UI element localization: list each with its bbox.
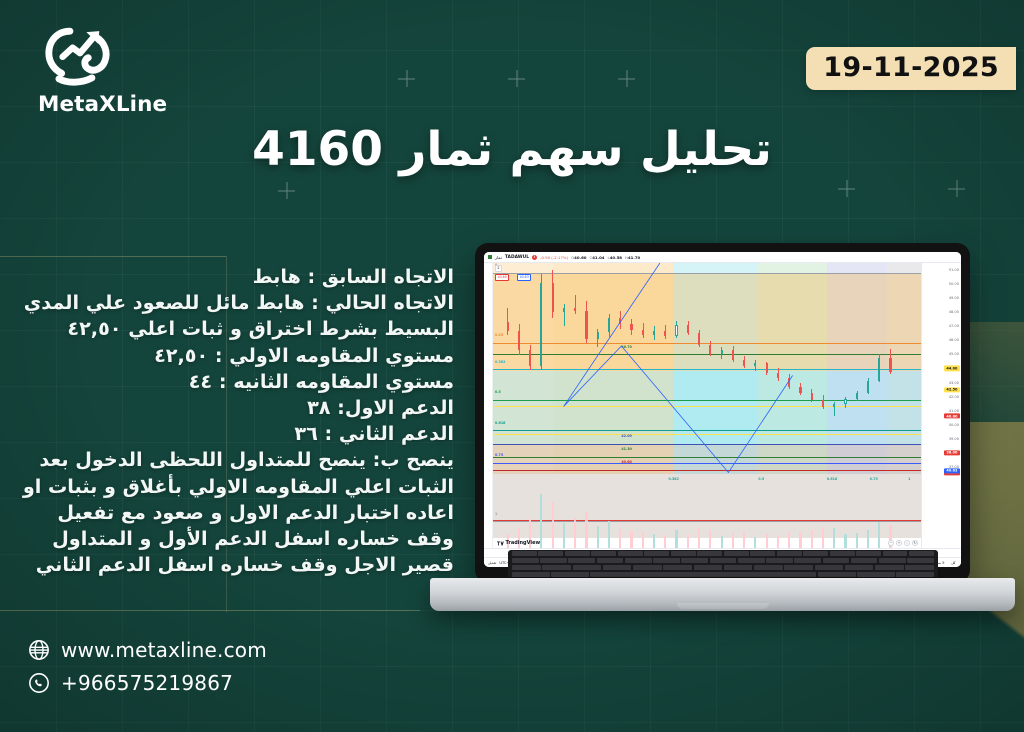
volume-bar bbox=[743, 532, 745, 548]
keyboard-row bbox=[508, 557, 938, 564]
price-change-label: -0.90 (-2.17%) bbox=[540, 255, 568, 260]
fib-vertical-label: 0.75 bbox=[870, 477, 878, 481]
laptop-trackpad bbox=[590, 576, 855, 577]
page-title: تحليل سهم ثمار 4160 bbox=[0, 122, 1024, 177]
price-tick: 40.00 bbox=[949, 423, 959, 427]
candlestick bbox=[518, 263, 520, 474]
candlestick bbox=[867, 263, 869, 474]
candlestick bbox=[642, 263, 644, 474]
brand-logo: MetaXLine bbox=[30, 22, 180, 117]
volume-bar bbox=[777, 535, 779, 548]
tradingview-chart: ثمار TADAWUL ! -0.90 (-2.17%) O40.60 C41… bbox=[484, 252, 961, 567]
bid-price-box: 40.60 bbox=[495, 274, 509, 281]
analysis-line: الاتجاه السابق : هابط bbox=[14, 264, 454, 290]
candle-body bbox=[653, 331, 655, 335]
fib-vertical-label: 1 bbox=[908, 477, 910, 481]
adjust-label[interactable]: تعديل bbox=[488, 561, 496, 565]
chart-header: ثمار TADAWUL ! -0.90 (-2.17%) O40.60 C41… bbox=[484, 252, 961, 263]
candlestick bbox=[788, 263, 790, 474]
candle-body bbox=[630, 324, 632, 329]
price-tick: 49.00 bbox=[949, 296, 959, 300]
zoom-out-button[interactable]: − bbox=[888, 540, 894, 546]
price-pill[interactable]: 44.00 bbox=[944, 366, 959, 371]
zoom-in-button[interactable]: + bbox=[896, 540, 902, 546]
ohlc-low: L40.58 bbox=[608, 255, 622, 260]
volume-bar bbox=[732, 533, 734, 548]
price-tick: 51.00 bbox=[949, 268, 959, 272]
candle-wick bbox=[507, 308, 508, 335]
volume-bar bbox=[630, 531, 632, 548]
analysis-text-panel: الاتجاه السابق : هابط الاتجاه الحالي : ه… bbox=[14, 264, 454, 578]
candlestick bbox=[608, 263, 610, 474]
alert-icon[interactable]: ! bbox=[532, 255, 537, 260]
analysis-line: الاتجاه الحالي : هابط مائل للصعود علي ال… bbox=[14, 290, 454, 316]
price-tick: 48.00 bbox=[949, 310, 959, 314]
analysis-line: وقف خساره اسفل الدعم الأول و المتداول bbox=[14, 526, 454, 552]
candlestick bbox=[799, 263, 801, 474]
fib-vertical-label: 0.382 bbox=[668, 477, 678, 481]
keyboard-row bbox=[508, 550, 938, 557]
candlestick bbox=[653, 263, 655, 474]
candle-body bbox=[585, 311, 587, 339]
tradingview-watermark: TradingView bbox=[497, 540, 540, 546]
laptop-mockup: ثمار TADAWUL ! -0.90 (-2.17%) O40.60 C41… bbox=[430, 243, 1015, 643]
price-tick: 41.00 bbox=[949, 409, 959, 413]
indicator-dotted-line bbox=[493, 520, 921, 521]
exchange-indicator-icon bbox=[488, 255, 492, 259]
time-range-chip[interactable]: كل bbox=[950, 560, 957, 565]
candlestick bbox=[507, 263, 509, 474]
price-tick: 39.00 bbox=[949, 437, 959, 441]
volume-bar bbox=[709, 530, 711, 548]
volume-bar bbox=[844, 534, 846, 548]
candle-body bbox=[597, 332, 599, 339]
analysis-line: قصير الاجل وقف خساره اسفل الدعم الثاني bbox=[14, 552, 454, 578]
candlestick bbox=[563, 263, 565, 474]
chart-zoom-controls[interactable]: − + ‹ ↻ bbox=[888, 540, 918, 546]
metaxline-logo-icon bbox=[38, 22, 122, 88]
volume-bar bbox=[833, 528, 835, 548]
candlestick bbox=[844, 263, 846, 474]
candlestick bbox=[540, 263, 542, 474]
footer-contact: www.metaxline.com +966575219867 bbox=[28, 638, 267, 704]
candle-body bbox=[732, 350, 734, 359]
price-tick: 43.00 bbox=[949, 381, 959, 385]
volume-bar bbox=[664, 535, 666, 548]
keyboard-row bbox=[508, 564, 938, 571]
volume-bar bbox=[811, 530, 813, 548]
candlestick bbox=[529, 263, 531, 474]
candlestick bbox=[552, 263, 554, 474]
candlestick bbox=[822, 263, 824, 474]
laptop-base bbox=[430, 578, 1015, 611]
candlestick bbox=[687, 263, 689, 474]
fib-vertical-label: 0.618 bbox=[827, 477, 837, 481]
candle-body bbox=[619, 318, 621, 324]
volume-bar bbox=[698, 528, 700, 548]
volume-bar bbox=[563, 523, 565, 548]
volume-bar bbox=[766, 534, 768, 548]
candle-body bbox=[698, 333, 700, 345]
ohlc-open: O40.60 bbox=[571, 255, 586, 260]
candle-body bbox=[608, 318, 610, 332]
ask-price-box: 40.63 bbox=[517, 274, 531, 281]
price-tick: 50.00 bbox=[949, 282, 959, 286]
candle-body bbox=[529, 350, 531, 366]
brand-name: MetaXLine bbox=[38, 92, 180, 117]
candle-body bbox=[867, 381, 869, 393]
candlestick bbox=[675, 263, 677, 474]
candlestick bbox=[664, 263, 666, 474]
candle-body bbox=[721, 350, 723, 353]
volume-bar bbox=[552, 502, 554, 548]
candle-body bbox=[664, 331, 666, 336]
fib-vertical-label: 0.5 bbox=[758, 477, 764, 481]
volume-bar bbox=[619, 529, 621, 548]
candle-body bbox=[788, 378, 790, 386]
candlestick bbox=[698, 263, 700, 474]
fib-level-line bbox=[493, 521, 921, 522]
candle-body bbox=[822, 400, 824, 406]
analysis-line: الدعم الثاني : ٣٦ bbox=[14, 421, 454, 447]
price-pill[interactable]: 38.00 bbox=[944, 450, 959, 455]
candlestick bbox=[630, 263, 632, 474]
candle-wick bbox=[564, 304, 565, 327]
candle-body bbox=[540, 283, 542, 366]
price-tick: 46.00 bbox=[949, 338, 959, 342]
chart-plot-area[interactable]: 2 40.60 40.63 − + ‹ ↻ bbox=[493, 263, 921, 548]
volume-bar bbox=[822, 527, 824, 548]
volume-bar bbox=[585, 512, 587, 548]
candlestick bbox=[721, 263, 723, 474]
date-badge: 19-11-2025 bbox=[806, 47, 1016, 90]
phone-row[interactable]: +966575219867 bbox=[28, 671, 267, 695]
candlestick bbox=[743, 263, 745, 474]
volume-bar bbox=[867, 530, 869, 548]
laptop-screen: ثمار TADAWUL ! -0.90 (-2.17%) O40.60 C41… bbox=[484, 252, 961, 567]
volume-bar bbox=[856, 533, 858, 548]
fib-level-label: 0.382 bbox=[495, 360, 505, 364]
analysis-line: ينصح ب: ينصح للمتداول اللحظى الدخول بعد bbox=[14, 447, 454, 473]
volume-bar bbox=[574, 518, 576, 548]
reset-view-button[interactable]: ↻ bbox=[912, 540, 918, 546]
volume-bar bbox=[675, 530, 677, 548]
candlestick bbox=[709, 263, 711, 474]
phone-label[interactable]: +966575219867 bbox=[61, 671, 233, 695]
ohlc-close: C41.04 bbox=[589, 255, 604, 260]
price-pill[interactable]: 40.63 bbox=[944, 468, 959, 473]
candle-body bbox=[754, 363, 756, 366]
candle-body bbox=[574, 308, 576, 311]
volume-bar bbox=[642, 532, 644, 548]
candlestick bbox=[766, 263, 768, 474]
volume-bar bbox=[608, 521, 610, 548]
candlestick bbox=[833, 263, 835, 474]
candlestick bbox=[619, 263, 621, 474]
volume-bar bbox=[878, 522, 880, 548]
exchange-label[interactable]: TADAWUL bbox=[505, 255, 529, 260]
candle-body bbox=[507, 322, 509, 330]
volume-bar bbox=[788, 531, 790, 548]
volume-bar bbox=[799, 532, 801, 548]
price-pill[interactable]: 42.50 bbox=[944, 387, 959, 392]
price-pill[interactable]: 40.60 bbox=[944, 414, 959, 419]
analysis-line: مستوي المقاومه الثانيه : ٤٤ bbox=[14, 369, 454, 395]
candlestick bbox=[856, 263, 858, 474]
candle-body bbox=[878, 358, 880, 381]
candlestick bbox=[585, 263, 587, 474]
fib-level-label: 0.618 bbox=[495, 421, 505, 425]
candle-body bbox=[687, 325, 689, 332]
candle-body bbox=[552, 283, 554, 312]
chart-price-axis[interactable]: 51.0050.0049.0048.0047.0046.0045.0044.00… bbox=[921, 263, 961, 548]
volume-bar bbox=[754, 537, 756, 548]
price-tick: 47.00 bbox=[949, 324, 959, 328]
candle-body bbox=[642, 330, 644, 335]
candlestick bbox=[811, 263, 813, 474]
fib-level-label: 0.5 bbox=[495, 390, 501, 394]
fib-level-label: 0.25 bbox=[495, 333, 503, 337]
laptop-lid: ثمار TADAWUL ! -0.90 (-2.17%) O40.60 C41… bbox=[475, 243, 970, 583]
candle-body bbox=[799, 387, 801, 393]
volume-bar bbox=[653, 534, 655, 548]
candle-body bbox=[675, 325, 677, 335]
pan-left-button[interactable]: ‹ bbox=[904, 540, 910, 546]
fib-level-label: 1 bbox=[495, 512, 497, 516]
whatsapp-icon bbox=[28, 672, 50, 694]
ohlc-high: H41.70 bbox=[625, 255, 640, 260]
candle-body bbox=[844, 399, 846, 404]
candle-wick bbox=[575, 295, 576, 314]
candle-body bbox=[743, 360, 745, 366]
chart-left-gutter bbox=[484, 263, 493, 548]
volume-bar bbox=[721, 536, 723, 548]
candlestick bbox=[878, 263, 880, 474]
candlestick bbox=[597, 263, 599, 474]
candle-body bbox=[856, 393, 858, 399]
volume-bar bbox=[687, 534, 689, 548]
interval-legend[interactable]: 2 bbox=[495, 265, 502, 272]
candlestick bbox=[754, 263, 756, 474]
candle-body bbox=[777, 373, 779, 378]
candlestick bbox=[889, 263, 891, 474]
candlestick bbox=[732, 263, 734, 474]
website-row[interactable]: www.metaxline.com bbox=[28, 638, 267, 662]
candle-body bbox=[709, 345, 711, 353]
candle-body bbox=[811, 393, 813, 400]
candle-body bbox=[563, 308, 565, 312]
analysis-line: اعاده اختبار الدعم الاول و صعود مع تفعيل bbox=[14, 500, 454, 526]
candle-body bbox=[766, 363, 768, 373]
website-label[interactable]: www.metaxline.com bbox=[61, 638, 267, 662]
laptop-keyboard bbox=[508, 550, 938, 577]
candlestick bbox=[777, 263, 779, 474]
price-tick: 45.00 bbox=[949, 352, 959, 356]
volume-bar bbox=[540, 494, 542, 548]
analysis-line: البسيط بشرط اختراق و ثبات اعلي ٤٢,٥٠ bbox=[14, 316, 454, 342]
analysis-line: مستوي المقاومه الاولي : ٤٢,٥٠ bbox=[14, 343, 454, 369]
candle-body bbox=[889, 358, 891, 373]
analysis-line: الدعم الاول: ٣٨ bbox=[14, 395, 454, 421]
chart-body: 2 40.60 40.63 − + ‹ ↻ bbox=[484, 263, 961, 548]
candlestick bbox=[574, 263, 576, 474]
volume-bar bbox=[597, 526, 599, 548]
candle-body bbox=[833, 404, 835, 406]
symbol-arabic-label[interactable]: ثمار bbox=[495, 255, 502, 260]
globe-icon bbox=[28, 639, 50, 661]
analysis-line: الثبات اعلي المقاومه الاولي بأغلاق و بثب… bbox=[14, 474, 454, 500]
candle-body bbox=[518, 331, 520, 351]
price-tick: 42.00 bbox=[949, 395, 959, 399]
